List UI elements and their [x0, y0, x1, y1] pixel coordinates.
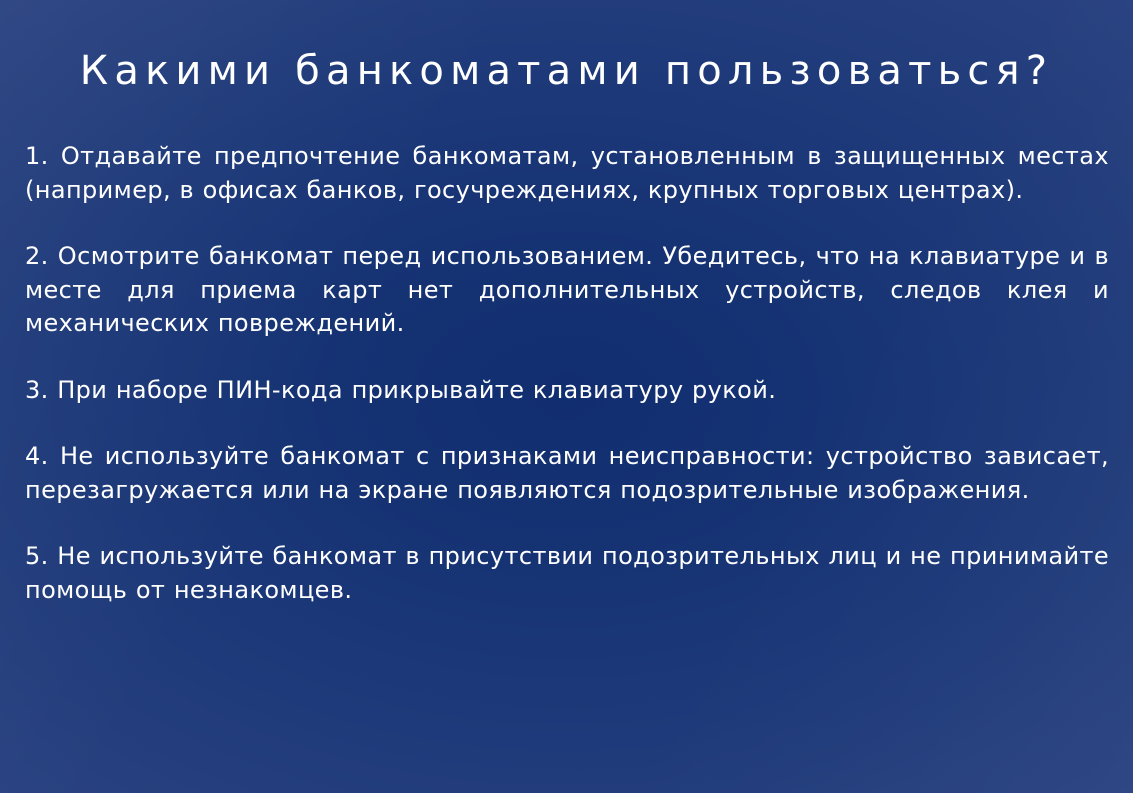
- list-item: 1. Отдавайте предпочтение банкоматам, ус…: [25, 140, 1109, 207]
- list-item: 2. Осмотрите банкомат перед использовани…: [25, 240, 1109, 341]
- presentation-slide: Какими банкоматами пользоваться? 1. Отда…: [0, 0, 1133, 793]
- page-title: Какими банкоматами пользоваться?: [0, 45, 1133, 97]
- list-item: 5. Не используйте банкомат в присутствии…: [25, 540, 1109, 607]
- list-item: 4. Не используйте банкомат с признаками …: [25, 440, 1109, 507]
- list-item: 3. При наборе ПИН-кода прикрывайте клави…: [25, 374, 1109, 408]
- slide-content-area: Какими банкоматами пользоваться? 1. Отда…: [0, 0, 1133, 793]
- slide-body-list: 1. Отдавайте предпочтение банкоматам, ус…: [25, 140, 1109, 607]
